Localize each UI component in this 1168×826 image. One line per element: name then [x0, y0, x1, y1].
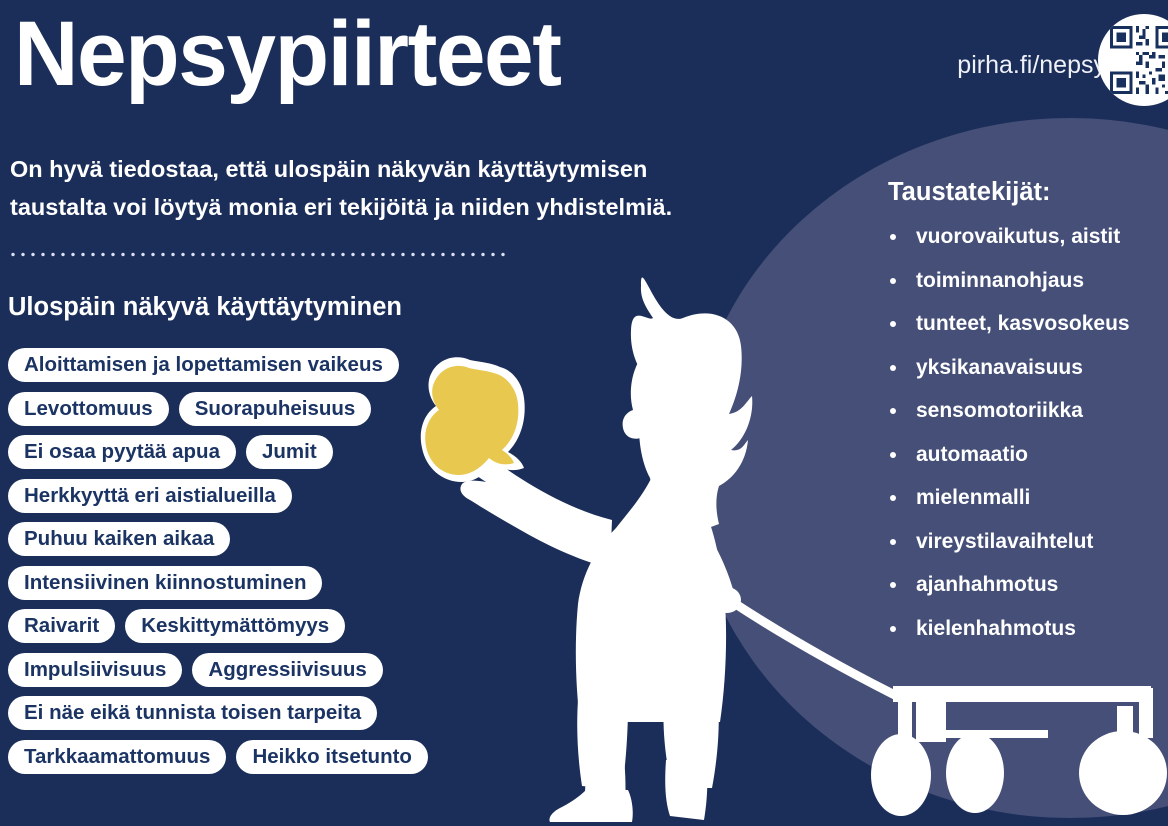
left-column: On hyvä tiedostaa, että ulospäin näkyvän… — [0, 0, 700, 826]
behaviour-tag[interactable]: Puhuu kaiken aikaa — [8, 522, 230, 556]
behaviour-tag[interactable]: Suorapuheisuus — [179, 392, 372, 426]
section-heading-behaviour: Ulospäin näkyvä käyttäytyminen — [8, 291, 402, 323]
background-factor-item: toiminnanohjaus — [880, 268, 1168, 293]
behaviour-tag[interactable]: Keskittymättömyys — [125, 609, 345, 643]
tag-row: Puhuu kaiken aikaa — [8, 522, 698, 556]
behaviour-tag[interactable]: Ei näe eikä tunnista toisen tarpeita — [8, 696, 377, 730]
intro-line-1: On hyvä tiedostaa, että ulospäin näkyvän… — [10, 150, 750, 188]
background-factor-item: kielenhahmotus — [880, 616, 1168, 641]
behaviour-tag[interactable]: Impulsiivisuus — [8, 653, 182, 687]
intro-paragraph: On hyvä tiedostaa, että ulospäin näkyvän… — [10, 150, 750, 226]
tag-row: Ei osaa pyytää apuaJumit — [8, 435, 698, 469]
background-factor-item: sensomotoriikka — [880, 398, 1168, 423]
right-column: Taustatekijät: vuorovaikutus, aistittoim… — [880, 176, 1168, 659]
tag-row: Aloittamisen ja lopettamisen vaikeus — [8, 348, 698, 382]
dotted-divider — [8, 252, 508, 257]
behaviour-tag[interactable]: Herkkyyttä eri aistialueilla — [8, 479, 292, 513]
tag-row: ImpulsiivisuusAggressiivisuus — [8, 653, 698, 687]
website-url: pirha.fi/nepsy — [957, 50, 1106, 80]
behaviour-tag[interactable]: Levottomuus — [8, 392, 169, 426]
tag-row: RaivaritKeskittymättömyys — [8, 609, 698, 643]
behaviour-tag[interactable]: Raivarit — [8, 609, 115, 643]
background-factor-item: tunteet, kasvosokeus — [880, 311, 1168, 336]
behaviour-tag[interactable]: Jumit — [246, 435, 333, 469]
behaviour-tag[interactable]: Heikko itsetunto — [236, 740, 427, 774]
poster: Nepsypiirteet pirha.fi/nepsy — [0, 0, 1168, 826]
tag-row: Ei näe eikä tunnista toisen tarpeita — [8, 696, 698, 730]
background-factor-item: vuorovaikutus, aistit — [880, 224, 1168, 249]
qr-code-icon[interactable] — [1098, 14, 1168, 106]
behaviour-tag-list: Aloittamisen ja lopettamisen vaikeusLevo… — [8, 348, 698, 783]
background-factors-list: vuorovaikutus, aistittoiminnanohjaustunt… — [880, 224, 1168, 641]
background-factor-item: ajanhahmotus — [880, 572, 1168, 597]
intro-line-2: taustalta voi löytyä monia eri tekijöitä… — [10, 188, 750, 226]
tag-row: Herkkyyttä eri aistialueilla — [8, 479, 698, 513]
background-factor-item: vireystilavaihtelut — [880, 529, 1168, 554]
tag-row: Intensiivinen kiinnostuminen — [8, 566, 698, 600]
background-factor-item: yksikanavaisuus — [880, 355, 1168, 380]
behaviour-tag[interactable]: Ei osaa pyytää apua — [8, 435, 236, 469]
behaviour-tag[interactable]: Aggressiivisuus — [192, 653, 382, 687]
section-heading-background-factors: Taustatekijät: — [888, 176, 1168, 208]
tag-row: TarkkaamattomuusHeikko itsetunto — [8, 740, 698, 774]
behaviour-tag[interactable]: Aloittamisen ja lopettamisen vaikeus — [8, 348, 399, 382]
behaviour-tag[interactable]: Intensiivinen kiinnostuminen — [8, 566, 322, 600]
background-factor-item: automaatio — [880, 442, 1168, 467]
background-factor-item: mielenmalli — [880, 485, 1168, 510]
behaviour-tag[interactable]: Tarkkaamattomuus — [8, 740, 226, 774]
tag-row: LevottomuusSuorapuheisuus — [8, 392, 698, 426]
